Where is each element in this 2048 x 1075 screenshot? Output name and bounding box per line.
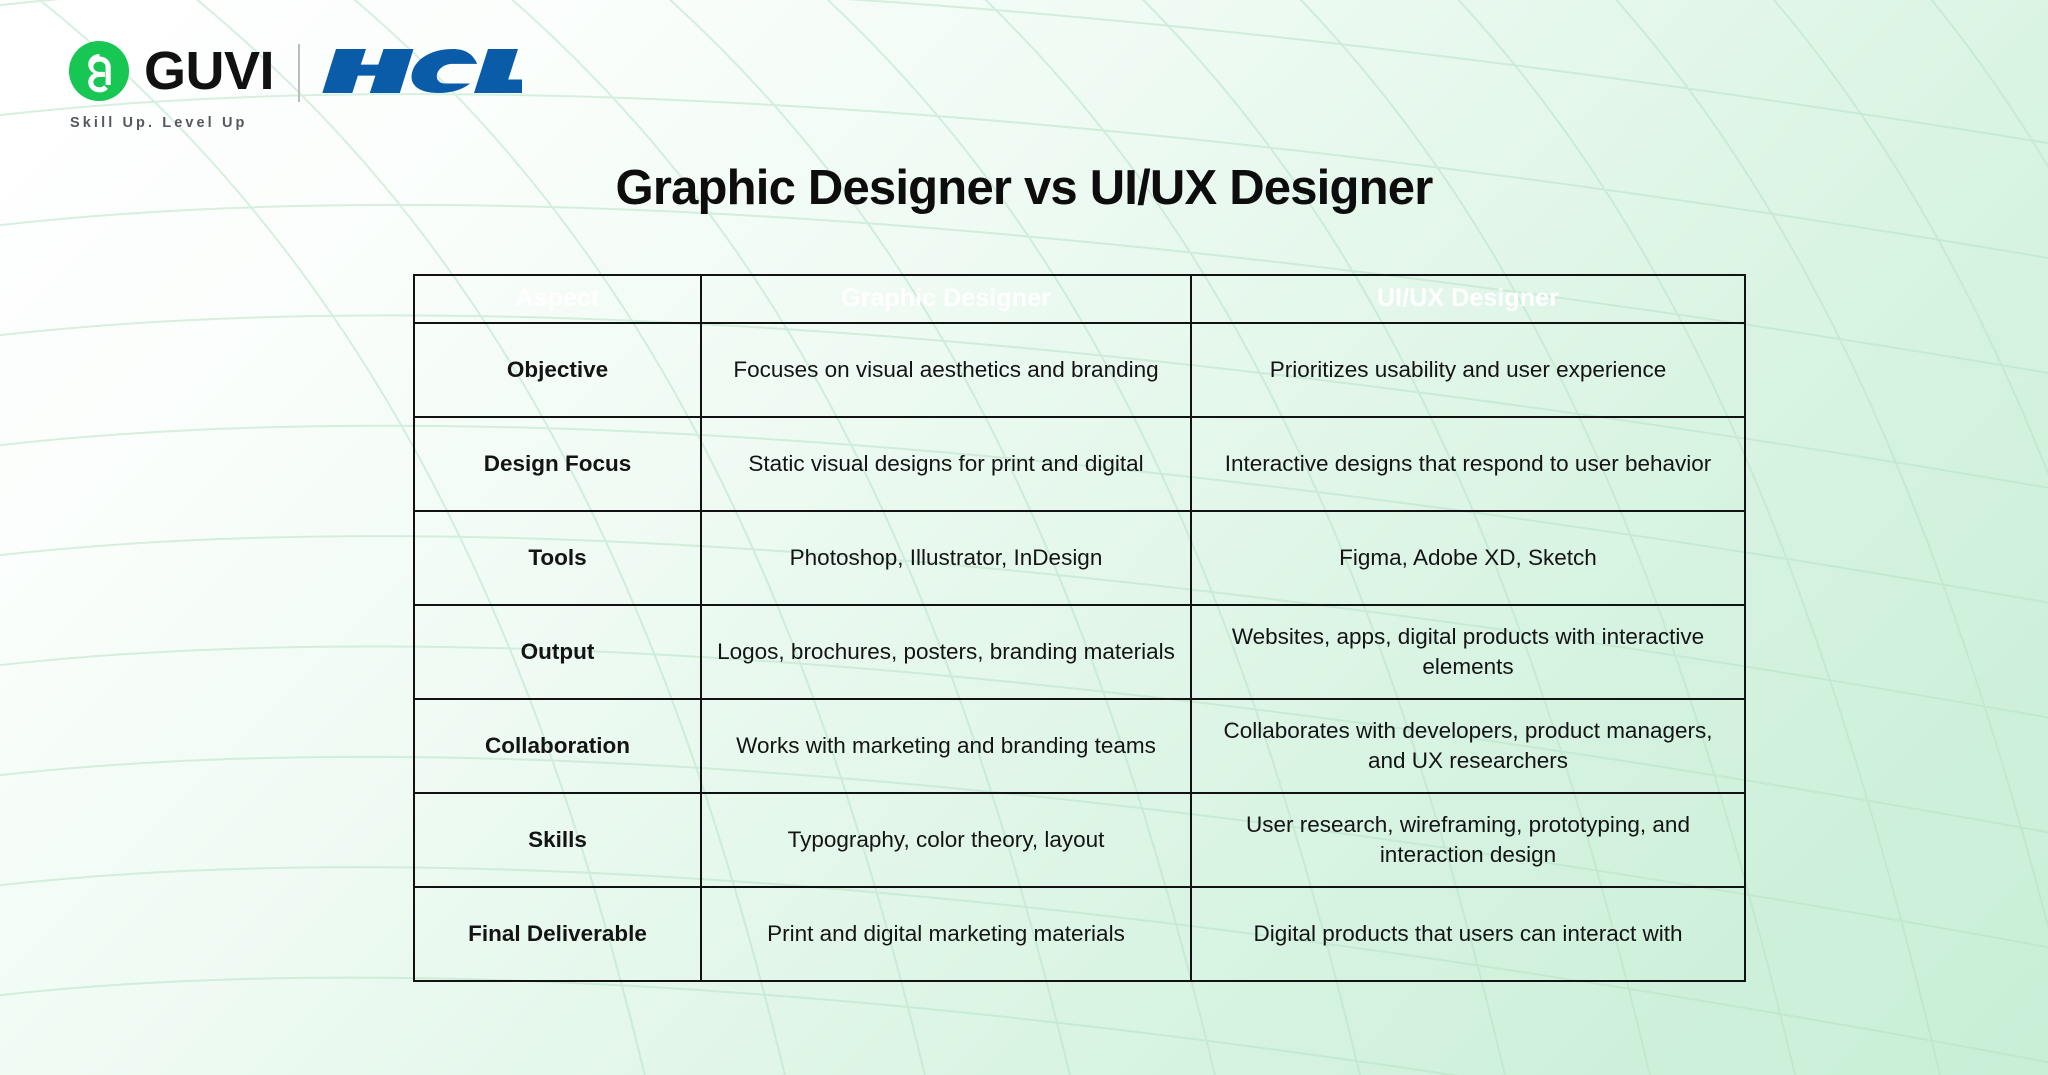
cell-aspect: Design Focus <box>414 417 701 511</box>
logo-separator <box>298 44 300 102</box>
cell-aspect: Objective <box>414 323 701 417</box>
guvi-logo: GUVI Skill Up. Level Up <box>68 40 274 131</box>
cell-uiux: Websites, apps, digital products with in… <box>1191 605 1745 699</box>
cell-aspect: Tools <box>414 511 701 605</box>
table-row: Output Logos, brochures, posters, brandi… <box>414 605 1745 699</box>
table-head: Aspect Graphic Designer UI/UX Designer <box>414 275 1745 323</box>
table-row: Skills Typography, color theory, layout … <box>414 793 1745 887</box>
table-row: Objective Focuses on visual aesthetics a… <box>414 323 1745 417</box>
cell-graphic: Photoshop, Illustrator, InDesign <box>701 511 1191 605</box>
cell-aspect: Skills <box>414 793 701 887</box>
cell-aspect: Final Deliverable <box>414 887 701 981</box>
cell-uiux: Prioritizes usability and user experienc… <box>1191 323 1745 417</box>
guvi-wordmark: GUVI <box>144 44 274 98</box>
column-header-aspect: Aspect <box>414 275 701 323</box>
cell-graphic: Logos, brochures, posters, branding mate… <box>701 605 1191 699</box>
cell-uiux: User research, wireframing, prototyping,… <box>1191 793 1745 887</box>
guvi-logo-icon <box>68 40 130 102</box>
table-row: Final Deliverable Print and digital mark… <box>414 887 1745 981</box>
column-header-graphic-designer: Graphic Designer <box>701 275 1191 323</box>
cell-graphic: Works with marketing and branding teams <box>701 699 1191 793</box>
cell-uiux: Collaborates with developers, product ma… <box>1191 699 1745 793</box>
cell-uiux: Interactive designs that respond to user… <box>1191 417 1745 511</box>
cell-graphic: Static visual designs for print and digi… <box>701 417 1191 511</box>
brand-logo-bar: GUVI Skill Up. Level Up <box>68 40 522 131</box>
hcl-wordmark-icon <box>322 45 522 97</box>
cell-graphic: Print and digital marketing materials <box>701 887 1191 981</box>
table-row: Design Focus Static visual designs for p… <box>414 417 1745 511</box>
slide-canvas: GUVI Skill Up. Level Up Graphic Designer… <box>0 0 2048 1075</box>
table-row: Tools Photoshop, Illustrator, InDesign F… <box>414 511 1745 605</box>
page-title: Graphic Designer vs UI/UX Designer <box>0 160 2048 216</box>
cell-aspect: Output <box>414 605 701 699</box>
cell-uiux: Figma, Adobe XD, Sketch <box>1191 511 1745 605</box>
cell-aspect: Collaboration <box>414 699 701 793</box>
hcl-logo <box>322 45 522 102</box>
cell-uiux: Digital products that users can interact… <box>1191 887 1745 981</box>
comparison-table: Aspect Graphic Designer UI/UX Designer O… <box>413 274 1746 982</box>
table-row: Collaboration Works with marketing and b… <box>414 699 1745 793</box>
column-header-uiux-designer: UI/UX Designer <box>1191 275 1745 323</box>
cell-graphic: Focuses on visual aesthetics and brandin… <box>701 323 1191 417</box>
table-body: Objective Focuses on visual aesthetics a… <box>414 323 1745 981</box>
cell-graphic: Typography, color theory, layout <box>701 793 1191 887</box>
guvi-tagline: Skill Up. Level Up <box>70 115 247 131</box>
table-header-row: Aspect Graphic Designer UI/UX Designer <box>414 275 1745 323</box>
